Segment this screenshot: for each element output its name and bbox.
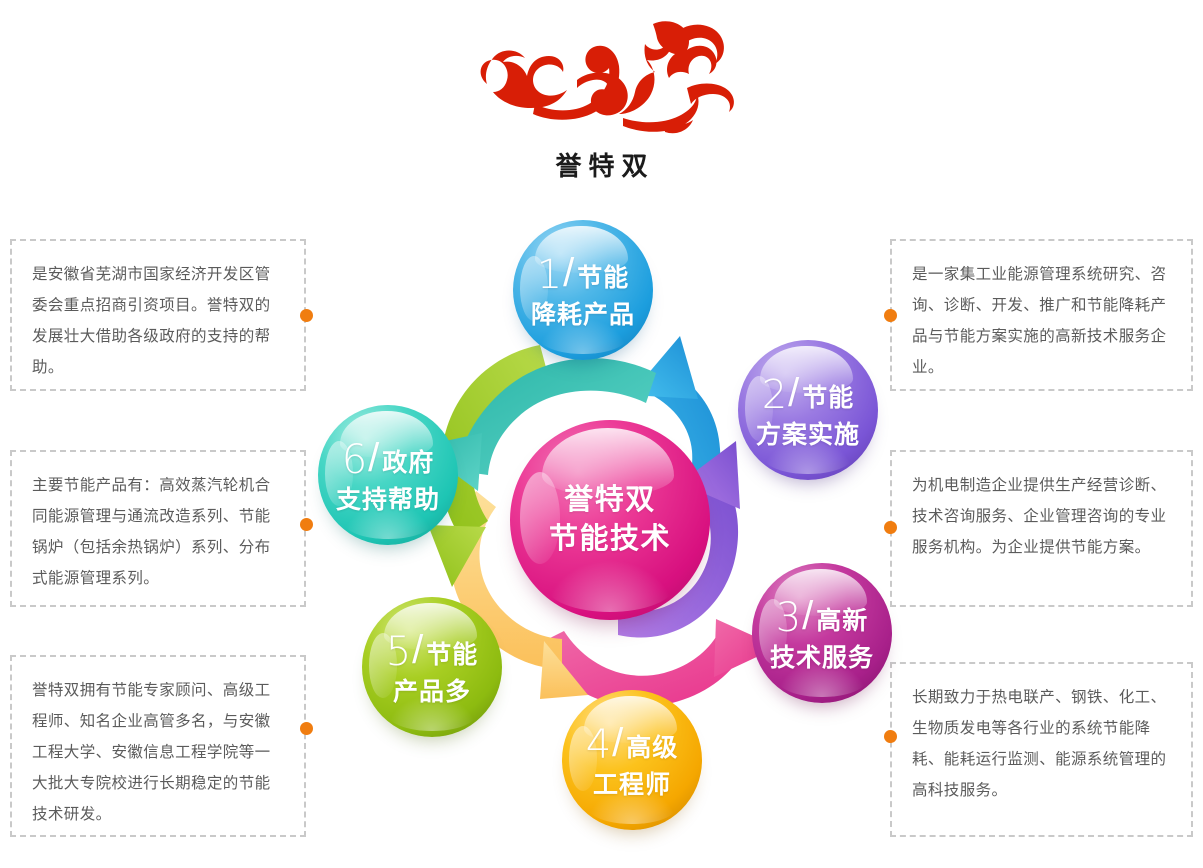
sphere-label: 6/政府 支持帮助: [336, 435, 440, 516]
sphere-line2: 降耗产品: [531, 301, 635, 331]
sphere-label: 5/节能 产品多: [386, 627, 479, 708]
sphere-line2: 方案实施: [756, 421, 860, 451]
infographic-canvas: 誉特双 是安徽省芜湖市国家经济开发区管委会重点招商引资项目。誉特双的发展壮大借助…: [0, 0, 1203, 868]
sphere-label: 3/高新 技术服务: [770, 593, 874, 674]
info-box-company-overview: 是一家集工业能源管理系统研究、咨询、诊断、开发、推广和节能降耗产品与节能方案实施…: [890, 239, 1193, 391]
sphere-high-tech-service[interactable]: 3/高新 技术服务: [752, 563, 892, 703]
sphere-number: 4: [586, 722, 611, 768]
center-line-1: 誉特双: [549, 482, 671, 519]
sphere-highlight-bottom: [546, 560, 674, 612]
info-box-text: 长期致力于热电联产、钢铁、化工、生物质发电等各行业的系统节能降耗、能耗运行监测、…: [912, 682, 1171, 806]
center-sphere-label: 誉特双 节能技术: [549, 482, 671, 558]
sphere-label: 1/节能 降耗产品: [531, 250, 635, 331]
sphere-line1-word: 节能: [426, 641, 478, 669]
sphere-line1-word: 高级: [626, 734, 678, 762]
sphere-line1-word: 政府: [382, 449, 434, 477]
info-box-text: 是一家集工业能源管理系统研究、咨询、诊断、开发、推广和节能降耗产品与节能方案实施…: [912, 259, 1171, 383]
swirl-diagram: 6/政府 支持帮助 5/节能 产品多 4/高级: [300, 195, 920, 860]
sphere-slash: /: [367, 436, 382, 480]
center-line-2: 节能技术: [549, 521, 671, 558]
info-box-consulting-services: 为机电制造企业提供生产经营诊断、技术咨询服务、企业管理咨询的专业服务机构。为企业…: [890, 450, 1193, 607]
sphere-slash: /: [801, 594, 816, 638]
sphere-number: 1: [537, 252, 562, 298]
info-box-text: 主要节能产品有：高效蒸汽轮机合同能源管理与通流改造系列、节能锅炉（包括余热锅炉）…: [32, 470, 284, 594]
sphere-number: 5: [386, 629, 411, 675]
info-box-experts-and-universities: 誉特双拥有节能专家顾问、高级工程师、知名企业高管多名，与安徽工程大学、安徽信息工…: [10, 655, 306, 837]
sphere-center-brand[interactable]: 誉特双 节能技术: [510, 420, 710, 620]
logo-wordmark: 誉特双: [455, 146, 755, 183]
sphere-line2: 支持帮助: [336, 486, 440, 516]
info-box-text: 为机电制造企业提供生产经营诊断、技术咨询服务、企业管理咨询的专业服务机构。为企业…: [912, 470, 1171, 563]
sphere-slash: /: [411, 628, 426, 672]
info-box-industry-focus: 长期致力于热电联产、钢铁、化工、生物质发电等各行业的系统节能降耗、能耗运行监测、…: [890, 662, 1193, 837]
sphere-line2: 产品多: [386, 678, 479, 708]
sphere-government-support[interactable]: 6/政府 支持帮助: [318, 405, 458, 545]
sphere-senior-engineers[interactable]: 4/高级 工程师: [562, 690, 702, 830]
company-logo: 誉特双: [455, 18, 755, 193]
sphere-number: 2: [762, 372, 787, 418]
sphere-slash: /: [787, 371, 802, 415]
sphere-line1-word: 节能: [577, 264, 629, 292]
info-box-text: 誉特双拥有节能专家顾问、高级工程师、知名企业高管多名，与安徽工程大学、安徽信息工…: [32, 675, 284, 830]
sphere-number: 3: [776, 595, 801, 641]
info-box-text: 是安徽省芜湖市国家经济开发区管委会重点招商引资项目。誉特双的发展壮大借助各级政府…: [32, 259, 284, 383]
sphere-line1-word: 高新: [816, 607, 868, 635]
sphere-label: 4/高级 工程师: [586, 720, 679, 801]
info-box-main-products: 主要节能产品有：高效蒸汽轮机合同能源管理与通流改造系列、节能锅炉（包括余热锅炉）…: [10, 450, 306, 607]
sphere-slash: /: [562, 251, 577, 295]
sphere-energy-saving-products[interactable]: 1/节能 降耗产品: [513, 220, 653, 360]
sphere-solution-implementation[interactable]: 2/节能 方案实施: [738, 340, 878, 480]
sphere-many-products[interactable]: 5/节能 产品多: [362, 597, 502, 737]
red-dragon-logo-icon: [455, 18, 755, 153]
sphere-label: 2/节能 方案实施: [756, 370, 860, 451]
sphere-number: 6: [342, 437, 367, 483]
sphere-line2: 技术服务: [770, 644, 874, 674]
info-box-government-project: 是安徽省芜湖市国家经济开发区管委会重点招商引资项目。誉特双的发展壮大借助各级政府…: [10, 239, 306, 391]
sphere-line1-word: 节能: [802, 384, 854, 412]
sphere-slash: /: [611, 721, 626, 765]
sphere-line2: 工程师: [586, 771, 679, 801]
